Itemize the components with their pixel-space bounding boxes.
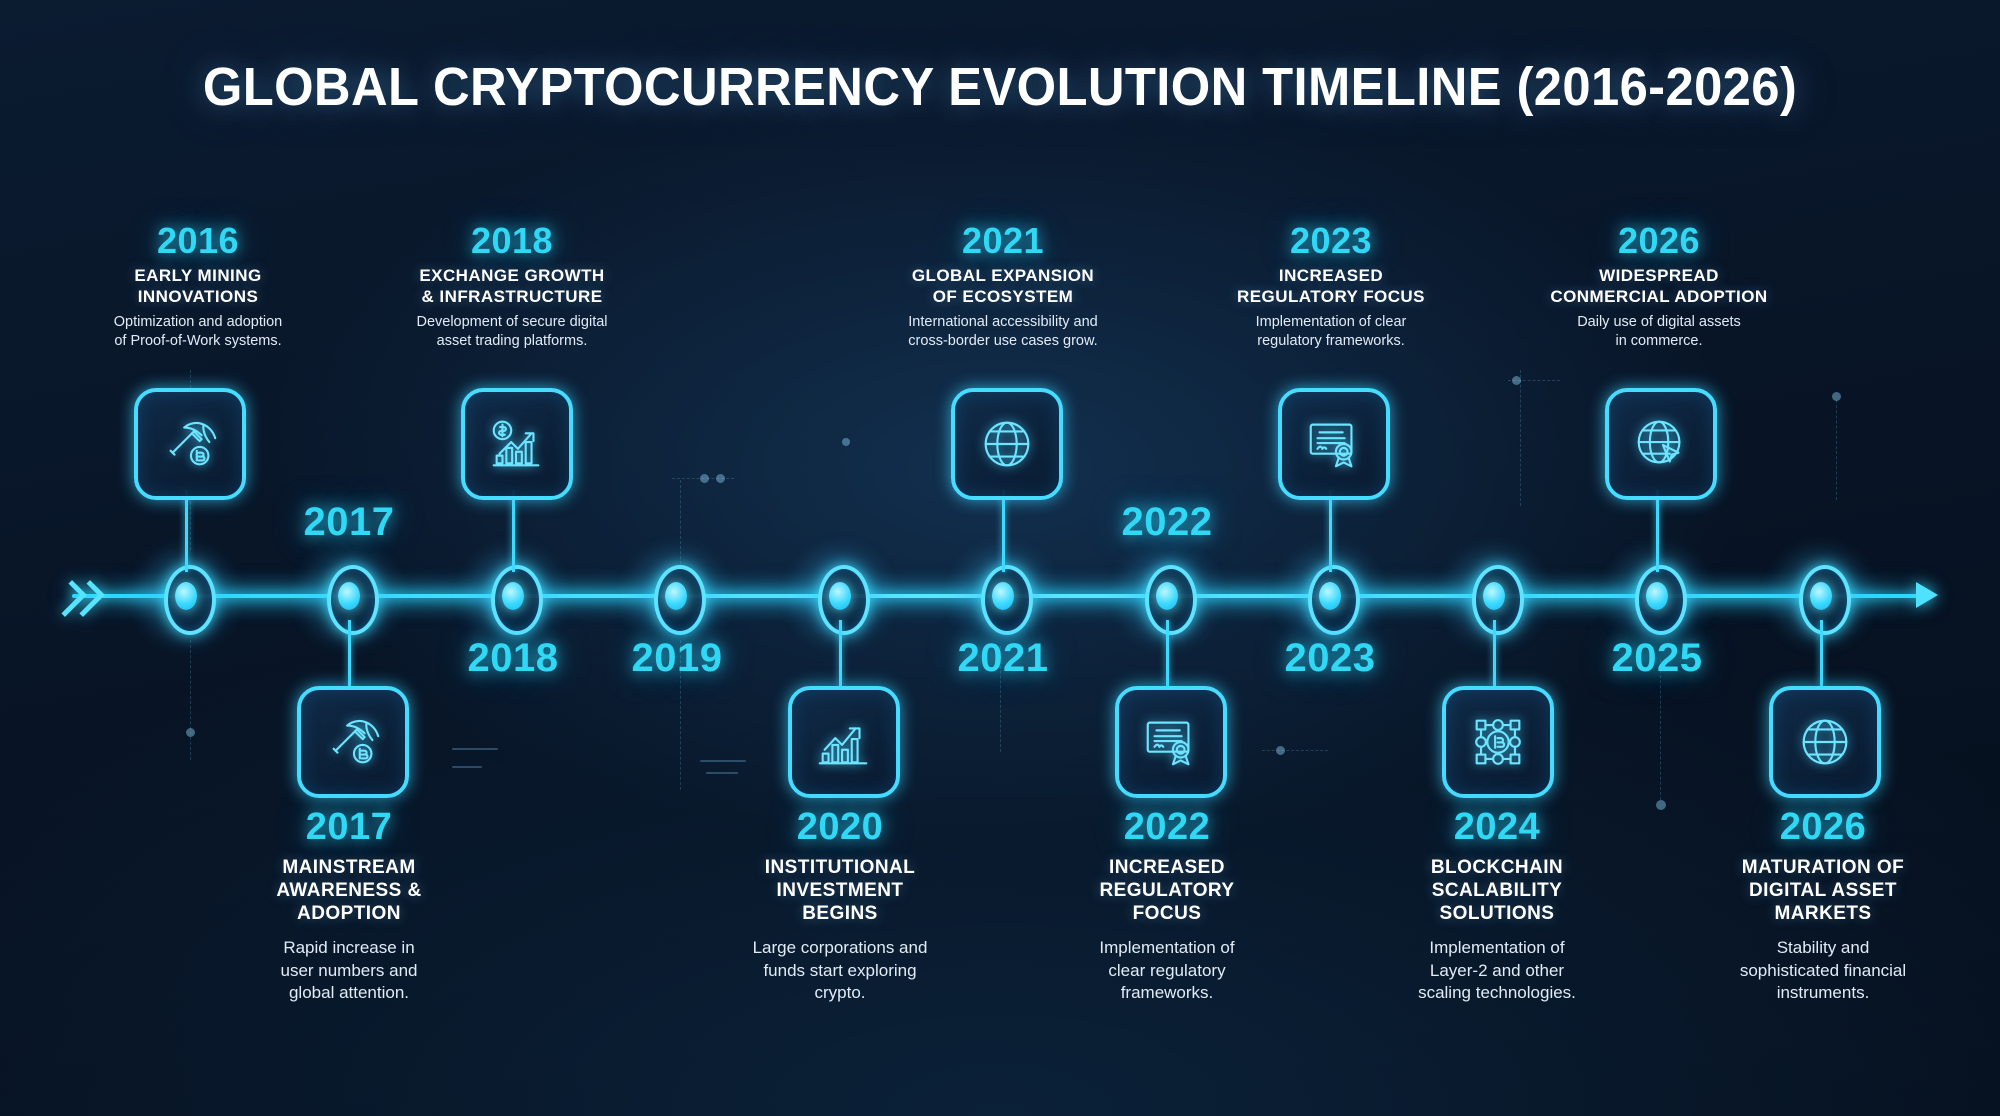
milestone-block-2022: 2022 INCREASED REGULATORY FOCUS Implemen… bbox=[1017, 808, 1317, 1004]
stem-2021 bbox=[1002, 490, 1005, 572]
milestone-block-2026-bottom: 2026 MATURATION OF DIGITAL ASSET MARKETS… bbox=[1673, 808, 1973, 1004]
blockchain-bitcoin-icon bbox=[1467, 711, 1529, 773]
timeline-node-2019[interactable] bbox=[636, 556, 716, 636]
icon-card-2026-top[interactable] bbox=[1605, 388, 1717, 500]
milestone-description: International accessibility and cross-bo… bbox=[853, 313, 1153, 350]
milestone-heading: MAINSTREAM AWARENESS & ADOPTION bbox=[199, 856, 499, 926]
milestone-heading: INSTITUTIONAL INVESTMENT BEGINS bbox=[690, 856, 990, 926]
milestone-year: 2020 bbox=[690, 808, 990, 848]
milestone-block-2024: 2024 BLOCKCHAIN SCALABILITY SOLUTIONS Im… bbox=[1347, 808, 1647, 1004]
milestone-block-2017: 2017 MAINSTREAM AWARENESS & ADOPTION Rap… bbox=[199, 808, 499, 1004]
stem-2026-bottom bbox=[1820, 620, 1823, 686]
milestone-year: 2021 bbox=[853, 222, 1153, 260]
milestone-description: Stability and sophisticated financial in… bbox=[1673, 937, 1973, 1003]
milestone-year: 2018 bbox=[362, 222, 662, 260]
stem-2026-top bbox=[1656, 490, 1659, 572]
pickaxe-bitcoin-icon bbox=[159, 413, 221, 475]
milestone-block-2020: 2020 INSTITUTIONAL INVESTMENT BEGINS Lar… bbox=[690, 808, 990, 1004]
milestone-block-2023: 2023 INCREASED REGULATORY FOCUS Implemen… bbox=[1181, 222, 1481, 350]
milestone-year: 2023 bbox=[1181, 222, 1481, 260]
milestone-year: 2016 bbox=[48, 222, 348, 260]
milestone-description: Optimization and adoption of Proof-of-Wo… bbox=[48, 313, 348, 350]
infographic-canvas: GLOBAL CRYPTOCURRENCY EVOLUTION TIMELINE… bbox=[0, 0, 2000, 1116]
stem-2020 bbox=[839, 620, 842, 686]
stem-2023 bbox=[1329, 490, 1332, 572]
milestone-description: Large corporations and funds start explo… bbox=[690, 937, 990, 1003]
icon-card-2018[interactable] bbox=[461, 388, 573, 500]
stem-2022 bbox=[1166, 620, 1169, 686]
globe-icon bbox=[1794, 711, 1856, 773]
milestone-description: Development of secure digital asset trad… bbox=[362, 313, 662, 350]
certificate-icon bbox=[1140, 711, 1202, 773]
globe-icon bbox=[976, 413, 1038, 475]
milestone-block-2018: 2018 EXCHANGE GROWTH & INFRASTRUCTURE De… bbox=[362, 222, 662, 350]
icon-card-2017[interactable] bbox=[297, 686, 409, 798]
axis-year-2019: 2019 bbox=[577, 636, 777, 681]
milestone-heading: EARLY MINING INNOVATIONS bbox=[48, 266, 348, 307]
milestone-heading: EXCHANGE GROWTH & INFRASTRUCTURE bbox=[362, 266, 662, 307]
milestone-heading: WIDESPREAD CONMERCIAL ADOPTION bbox=[1509, 266, 1809, 307]
stem-2016 bbox=[185, 490, 188, 572]
icon-card-2023[interactable] bbox=[1278, 388, 1390, 500]
axis-year-2022: 2022 bbox=[1067, 500, 1267, 545]
milestone-description: Daily use of digital assets in commerce. bbox=[1509, 313, 1809, 350]
growth-chart-icon bbox=[813, 711, 875, 773]
milestone-year: 2017 bbox=[199, 808, 499, 848]
growth-chart-dollar-icon bbox=[486, 413, 548, 475]
milestone-year: 2024 bbox=[1347, 808, 1647, 848]
milestone-heading: INCREASED REGULATORY FOCUS bbox=[1181, 266, 1481, 307]
milestone-description: Implementation of Layer-2 and other scal… bbox=[1347, 937, 1647, 1003]
icon-card-2026-bottom[interactable] bbox=[1769, 686, 1881, 798]
milestone-heading: INCREASED REGULATORY FOCUS bbox=[1017, 856, 1317, 926]
page-title: GLOBAL CRYPTOCURRENCY EVOLUTION TIMELINE… bbox=[60, 56, 1940, 118]
axis-year-2017: 2017 bbox=[249, 500, 449, 545]
axis-year-2023: 2023 bbox=[1230, 636, 1430, 681]
certificate-icon bbox=[1303, 413, 1365, 475]
globe-cursor-icon bbox=[1630, 413, 1692, 475]
milestone-block-2026-top: 2026 WIDESPREAD CONMERCIAL ADOPTION Dail… bbox=[1509, 222, 1809, 350]
milestone-description: Implementation of clear regulatory frame… bbox=[1017, 937, 1317, 1003]
milestone-block-2016: 2016 EARLY MINING INNOVATIONS Optimizati… bbox=[48, 222, 348, 350]
stem-2018 bbox=[512, 490, 515, 572]
milestone-heading: BLOCKCHAIN SCALABILITY SOLUTIONS bbox=[1347, 856, 1647, 926]
milestone-year: 2026 bbox=[1673, 808, 1973, 848]
pickaxe-bitcoin-icon bbox=[322, 711, 384, 773]
milestone-heading: MATURATION OF DIGITAL ASSET MARKETS bbox=[1673, 856, 1973, 926]
icon-card-2024[interactable] bbox=[1442, 686, 1554, 798]
milestone-description: Rapid increase in user numbers and globa… bbox=[199, 937, 499, 1003]
arrow-right-icon bbox=[1916, 582, 1938, 608]
icon-card-2020[interactable] bbox=[788, 686, 900, 798]
icon-card-2021[interactable] bbox=[951, 388, 1063, 500]
milestone-year: 2026 bbox=[1509, 222, 1809, 260]
axis-year-2021: 2021 bbox=[903, 636, 1103, 681]
icon-card-2022[interactable] bbox=[1115, 686, 1227, 798]
milestone-year: 2022 bbox=[1017, 808, 1317, 848]
milestone-heading: GLOBAL EXPANSION OF ECOSYSTEM bbox=[853, 266, 1153, 307]
axis-year-2025: 2025 bbox=[1557, 636, 1757, 681]
icon-card-2016[interactable] bbox=[134, 388, 246, 500]
milestone-description: Implementation of clear regulatory frame… bbox=[1181, 313, 1481, 350]
milestone-block-2021: 2021 GLOBAL EXPANSION OF ECOSYSTEM Inter… bbox=[853, 222, 1153, 350]
stem-2024 bbox=[1493, 620, 1496, 686]
stem-2017 bbox=[348, 620, 351, 686]
